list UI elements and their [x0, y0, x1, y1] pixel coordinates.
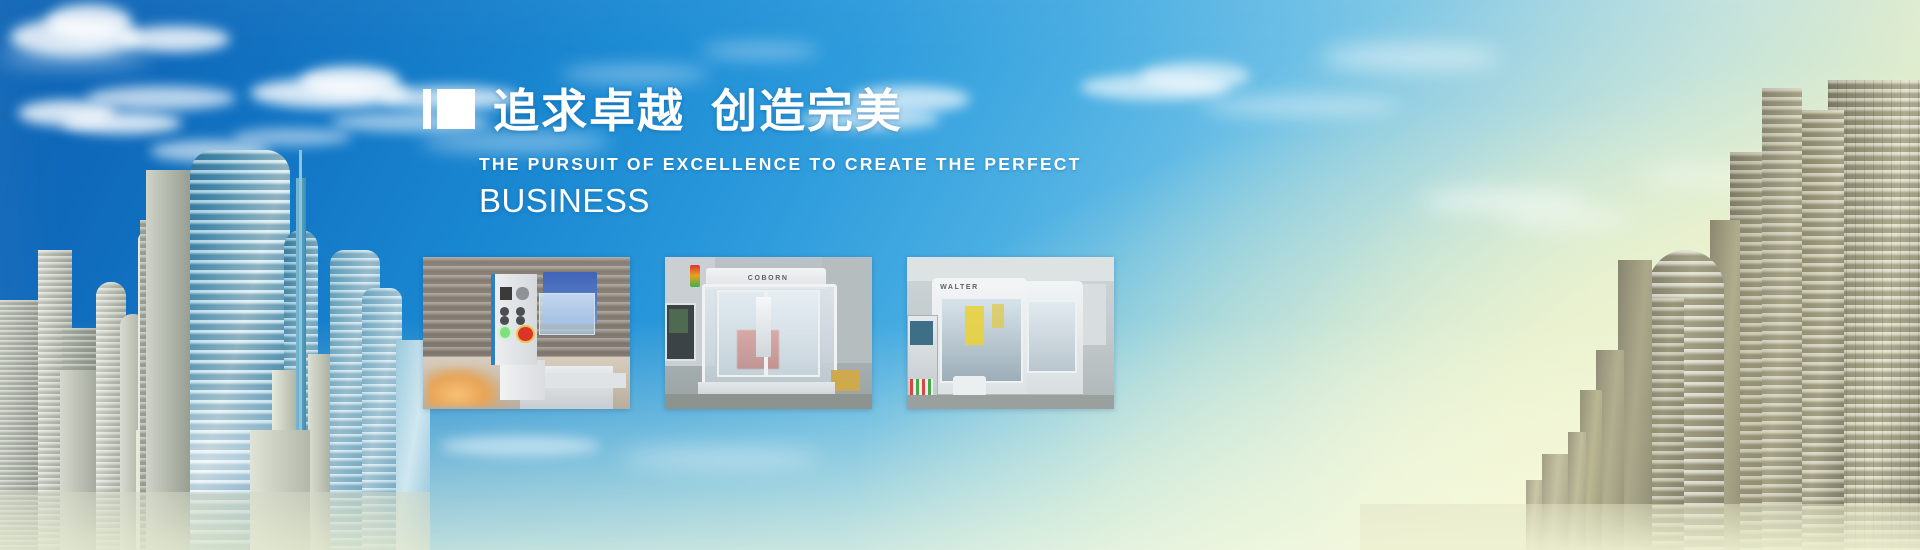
- subtitle-english: THE PURSUIT OF EXCELLENCE TO CREATE THE …: [479, 154, 1082, 175]
- logo-bar-shape: [423, 89, 431, 129]
- photo-1-scene: [423, 257, 630, 409]
- logo-square-shape: [437, 89, 475, 129]
- headline-chinese-part2: 创造完美: [711, 84, 903, 138]
- photo-walter-grinder[interactable]: WALTER: [907, 257, 1114, 409]
- headline-row: 追求卓越创造完美: [423, 88, 1082, 134]
- photo-3-brand-label: WALTER: [940, 284, 979, 291]
- headline-chinese-part1: 追求卓越: [493, 84, 685, 138]
- photo-2-brand-label: COBORN: [748, 275, 789, 282]
- headline-block: 追求卓越创造完美 THE PURSUIT OF EXCELLENCE TO CR…: [423, 88, 1082, 220]
- photo-3-scene: WALTER: [907, 257, 1114, 409]
- logo-mark-icon: [423, 89, 475, 129]
- photo-edm-machine[interactable]: [423, 257, 630, 409]
- photo-2-scene: COBORN: [665, 257, 872, 409]
- photo-coborn-grinder[interactable]: COBORN: [665, 257, 872, 409]
- product-photo-strip: COBORN WALTER: [423, 257, 1114, 409]
- headline-chinese: 追求卓越创造完美: [493, 88, 903, 134]
- subtitle-business-word: BUSINESS: [479, 182, 1082, 220]
- hero-banner: 追求卓越创造完美 THE PURSUIT OF EXCELLENCE TO CR…: [0, 0, 1920, 550]
